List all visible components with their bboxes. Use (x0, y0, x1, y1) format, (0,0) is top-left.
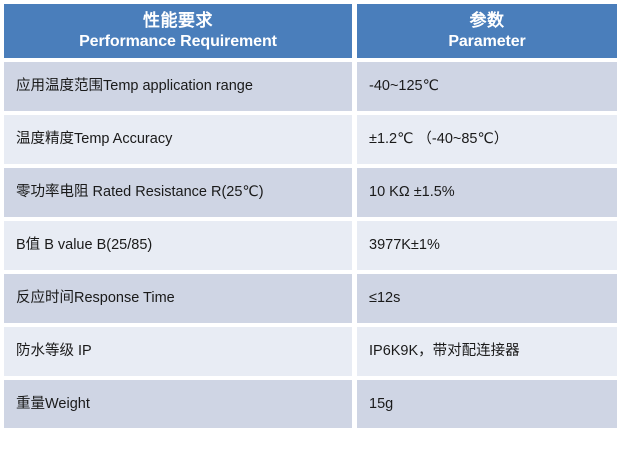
cell-requirement: 防水等级 IP (0, 327, 354, 380)
table-row: 防水等级 IP IP6K9K，带对配连接器 (0, 327, 621, 380)
table-row: 温度精度Temp Accuracy ±1.2℃ （-40~85℃） (0, 115, 621, 168)
column-header-parameter-cn: 参数 (363, 10, 611, 31)
table-body: 应用温度范围Temp application range -40~125℃ 温度… (0, 62, 621, 433)
cell-requirement: 应用温度范围Temp application range (0, 62, 354, 115)
column-header-performance-requirement-en: Performance Requirement (10, 32, 346, 52)
cell-requirement: 温度精度Temp Accuracy (0, 115, 354, 168)
table-row: 零功率电阻 Rated Resistance R(25℃) 10 KΩ ±1.5… (0, 168, 621, 221)
table-header: 性能要求 Performance Requirement 参数 Paramete… (0, 0, 621, 62)
header-row: 性能要求 Performance Requirement 参数 Paramete… (0, 0, 621, 62)
performance-requirement-table: 性能要求 Performance Requirement 参数 Paramete… (0, 0, 621, 433)
cell-requirement: 零功率电阻 Rated Resistance R(25℃) (0, 168, 354, 221)
cell-parameter: ±1.2℃ （-40~85℃） (354, 115, 621, 168)
cell-requirement: B值 B value B(25/85) (0, 221, 354, 274)
cell-parameter: ≤12s (354, 274, 621, 327)
column-header-parameter: 参数 Parameter (354, 0, 621, 62)
cell-parameter: IP6K9K，带对配连接器 (354, 327, 621, 380)
table-row: 重量Weight 15g (0, 380, 621, 433)
table-row: 应用温度范围Temp application range -40~125℃ (0, 62, 621, 115)
column-header-parameter-en: Parameter (363, 32, 611, 52)
cell-requirement: 重量Weight (0, 380, 354, 433)
column-header-performance-requirement-cn: 性能要求 (10, 10, 346, 31)
cell-parameter: 15g (354, 380, 621, 433)
table-row: 反应时间Response Time ≤12s (0, 274, 621, 327)
cell-parameter: 3977K±1% (354, 221, 621, 274)
table-row: B值 B value B(25/85) 3977K±1% (0, 221, 621, 274)
column-header-performance-requirement: 性能要求 Performance Requirement (0, 0, 354, 62)
cell-requirement: 反应时间Response Time (0, 274, 354, 327)
cell-parameter: 10 KΩ ±1.5% (354, 168, 621, 221)
spec-table-container: 性能要求 Performance Requirement 参数 Paramete… (0, 0, 621, 465)
cell-parameter: -40~125℃ (354, 62, 621, 115)
